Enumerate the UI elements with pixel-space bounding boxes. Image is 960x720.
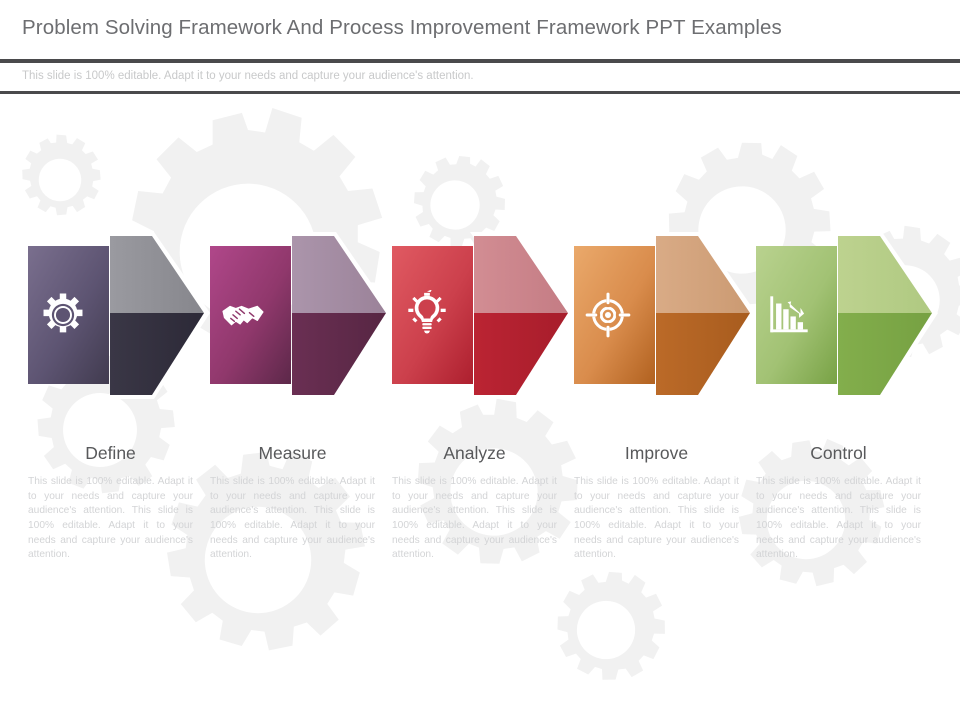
subtitle-divider — [0, 91, 960, 94]
page-title: Problem Solving Framework And Process Im… — [22, 16, 782, 40]
step-graphic-analyze[interactable] — [378, 228, 578, 403]
bar-chart-decline-icon — [766, 292, 812, 338]
step-body-improve: This slide is 100% editable. Adapt it to… — [574, 475, 739, 563]
step-heading-improve: Improve — [574, 444, 739, 463]
slide-subtitle: This slide is 100% editable. Adapt it to… — [22, 70, 474, 82]
step-graphic-control[interactable] — [742, 228, 942, 403]
step-body-define: This slide is 100% editable. Adapt it to… — [28, 475, 193, 563]
step-heading-analyze: Analyze — [392, 444, 557, 463]
step-heading-measure: Measure — [210, 444, 375, 463]
step-body-analyze: This slide is 100% editable. Adapt it to… — [392, 475, 557, 563]
title-divider — [0, 59, 960, 63]
step-caption-define: Define This slide is 100% editable. Adap… — [28, 444, 193, 563]
target-crosshair-icon — [585, 292, 631, 338]
step-graphic-define[interactable] — [14, 228, 214, 403]
step-caption-analyze: Analyze This slide is 100% editable. Ada… — [392, 444, 557, 563]
step-graphic-improve[interactable] — [560, 228, 760, 403]
lightbulb-gear-icon — [404, 290, 450, 336]
step-graphic-measure[interactable] — [196, 228, 396, 403]
process-arrow-row — [0, 228, 960, 403]
step-caption-control: Control This slide is 100% editable. Ada… — [756, 444, 921, 563]
step-body-measure: This slide is 100% editable. Adapt it to… — [210, 475, 375, 563]
step-caption-improve: Improve This slide is 100% editable. Ada… — [574, 444, 739, 563]
step-heading-define: Define — [28, 444, 193, 463]
handshake-icon — [220, 294, 266, 340]
gear-icon — [40, 292, 86, 338]
step-body-control: This slide is 100% editable. Adapt it to… — [756, 475, 921, 563]
step-heading-control: Control — [756, 444, 921, 463]
step-caption-measure: Measure This slide is 100% editable. Ada… — [210, 444, 375, 563]
